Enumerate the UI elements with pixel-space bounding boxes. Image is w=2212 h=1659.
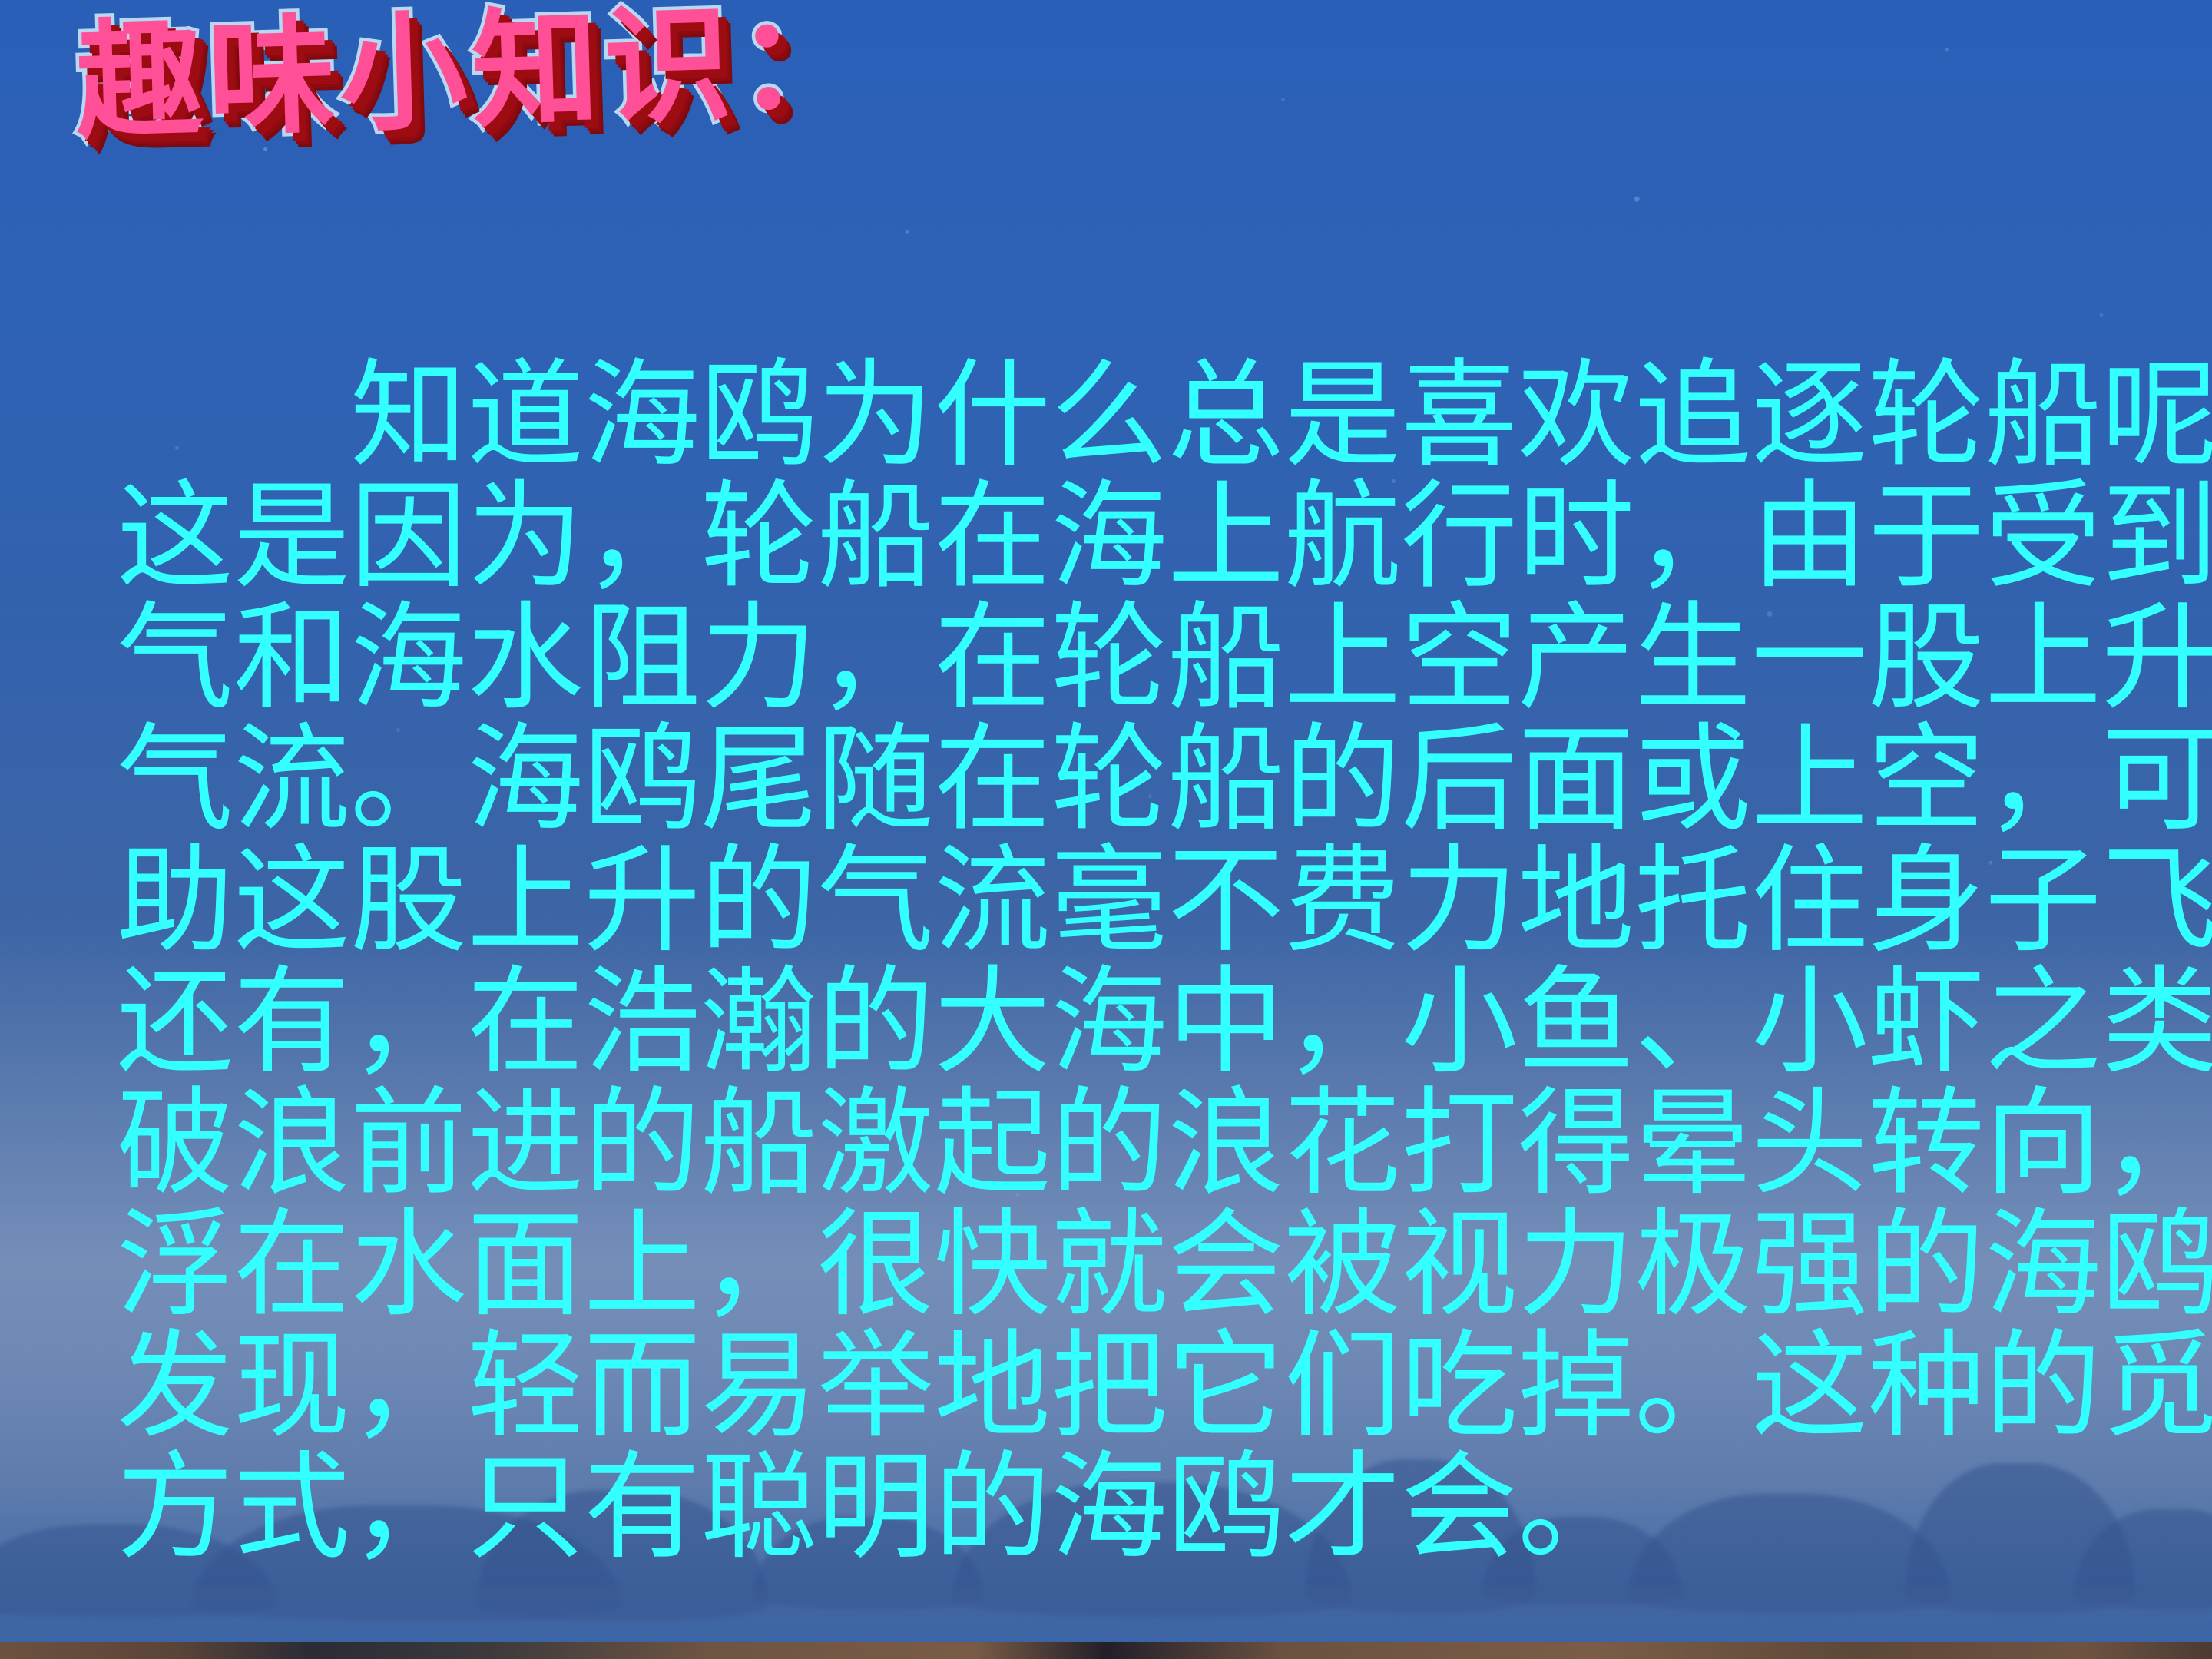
body-line: 破浪前进的船激起的浪花打得晕头转向，漂 <box>117 1083 2100 1204</box>
slide-body-text: 知道海鸥为什么总是喜欢追逐轮船呢？ 这是因为，轮船在海上航行时，由于受到空 气和… <box>117 355 2100 1568</box>
body-line: 还有，在浩瀚的大海中，小鱼、小虾之类被 <box>117 962 2100 1083</box>
body-line: 方式，只有聪明的海鸥才会。 <box>117 1447 2100 1568</box>
body-line: 助这股上升的气流毫不费力地托住身子飞翔。 <box>117 840 2100 962</box>
body-line: 气流。海鸥尾随在轮船的后面或上空，可借 <box>117 719 2100 840</box>
body-line: 知道海鸥为什么总是喜欢追逐轮船呢？ <box>117 355 2100 476</box>
body-line: 浮在水面上，很快就会被视力极强的海鸥所 <box>117 1204 2100 1326</box>
bottom-edge-band <box>0 1642 2212 1659</box>
body-line: 气和海水阻力，在轮船上空产生一股上升的 <box>117 598 2100 719</box>
slide-title: 趣味小知识： <box>74 0 869 147</box>
body-line: 发现，轻而易举地把它们吃掉。这种的觅食 <box>117 1326 2100 1447</box>
presentation-slide: 趣味小知识： 知道海鸥为什么总是喜欢追逐轮船呢？ 这是因为，轮船在海上航行时，由… <box>0 0 2212 1659</box>
body-line: 这是因为，轮船在海上航行时，由于受到空 <box>117 476 2100 598</box>
